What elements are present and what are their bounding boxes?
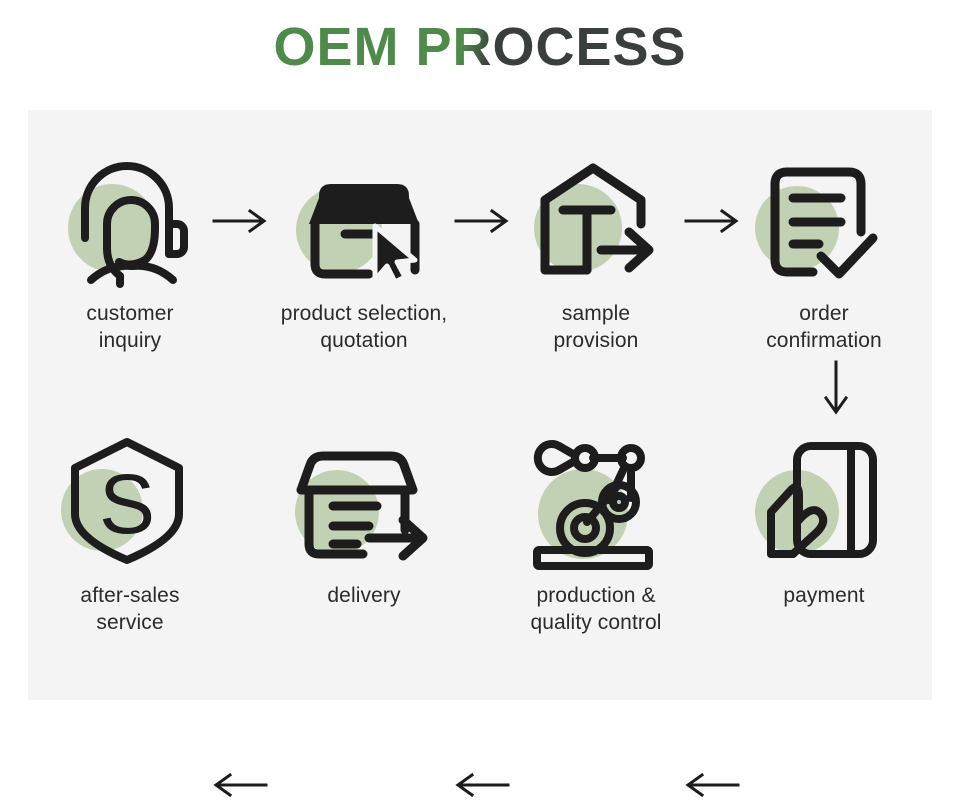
step-label: payment xyxy=(724,582,924,609)
icon-container xyxy=(264,430,464,570)
robot-arm-icon xyxy=(521,430,671,570)
step-label: after-sales service xyxy=(30,582,230,636)
svg-text:S: S xyxy=(99,457,155,551)
step-label: order confirmation xyxy=(724,300,924,354)
process-step-sample-provision[interactable]: sample provision xyxy=(496,148,696,354)
process-step-payment[interactable]: payment xyxy=(724,430,924,609)
connector-arrow-right xyxy=(682,206,742,236)
process-step-order-confirmation[interactable]: order confirmation xyxy=(724,148,924,354)
connector-arrow-left xyxy=(682,770,742,800)
process-step-customer-inquiry[interactable]: customer inquiry xyxy=(30,148,230,354)
icon-container xyxy=(30,148,230,288)
step-label: production & quality control xyxy=(496,582,696,636)
process-row-top: customer inquiry product selection, quot… xyxy=(28,148,932,378)
step-label: delivery xyxy=(264,582,464,609)
process-step-delivery[interactable]: delivery xyxy=(264,430,464,609)
icon-container xyxy=(264,148,464,288)
connector-arrow-right xyxy=(452,206,512,236)
hand-card-icon xyxy=(749,434,899,566)
connector-arrow-left xyxy=(452,770,512,800)
headset-support-icon xyxy=(55,152,205,284)
connector-arrow-left xyxy=(210,770,270,800)
icon-container xyxy=(496,430,696,570)
process-step-after-sales-service[interactable]: S after-sales service xyxy=(30,430,230,636)
icon-container xyxy=(724,148,924,288)
box-lines-arrow-icon xyxy=(289,434,439,566)
process-row-bottom: S after-sales service xyxy=(28,430,932,660)
step-label: customer inquiry xyxy=(30,300,230,354)
icon-container: S xyxy=(30,430,230,570)
shield-s-icon: S xyxy=(55,430,205,570)
connector-arrow-right xyxy=(210,206,270,236)
process-step-product-selection[interactable]: product selection, quotation xyxy=(264,148,464,354)
step-label: product selection, quotation xyxy=(264,300,464,354)
process-diagram-panel: customer inquiry product selection, quot… xyxy=(28,110,932,700)
step-label: sample provision xyxy=(496,300,696,354)
icon-container xyxy=(496,148,696,288)
box-cursor-icon xyxy=(289,152,439,284)
icon-container xyxy=(724,430,924,570)
connector-arrow-down xyxy=(806,358,866,418)
process-step-production-qc[interactable]: production & quality control xyxy=(496,430,696,636)
warehouse-arrow-icon xyxy=(521,152,671,284)
document-check-icon xyxy=(749,152,899,284)
page-title: OEM PROCESS xyxy=(0,20,960,74)
page-title-text: OEM PROCESS xyxy=(273,20,686,74)
